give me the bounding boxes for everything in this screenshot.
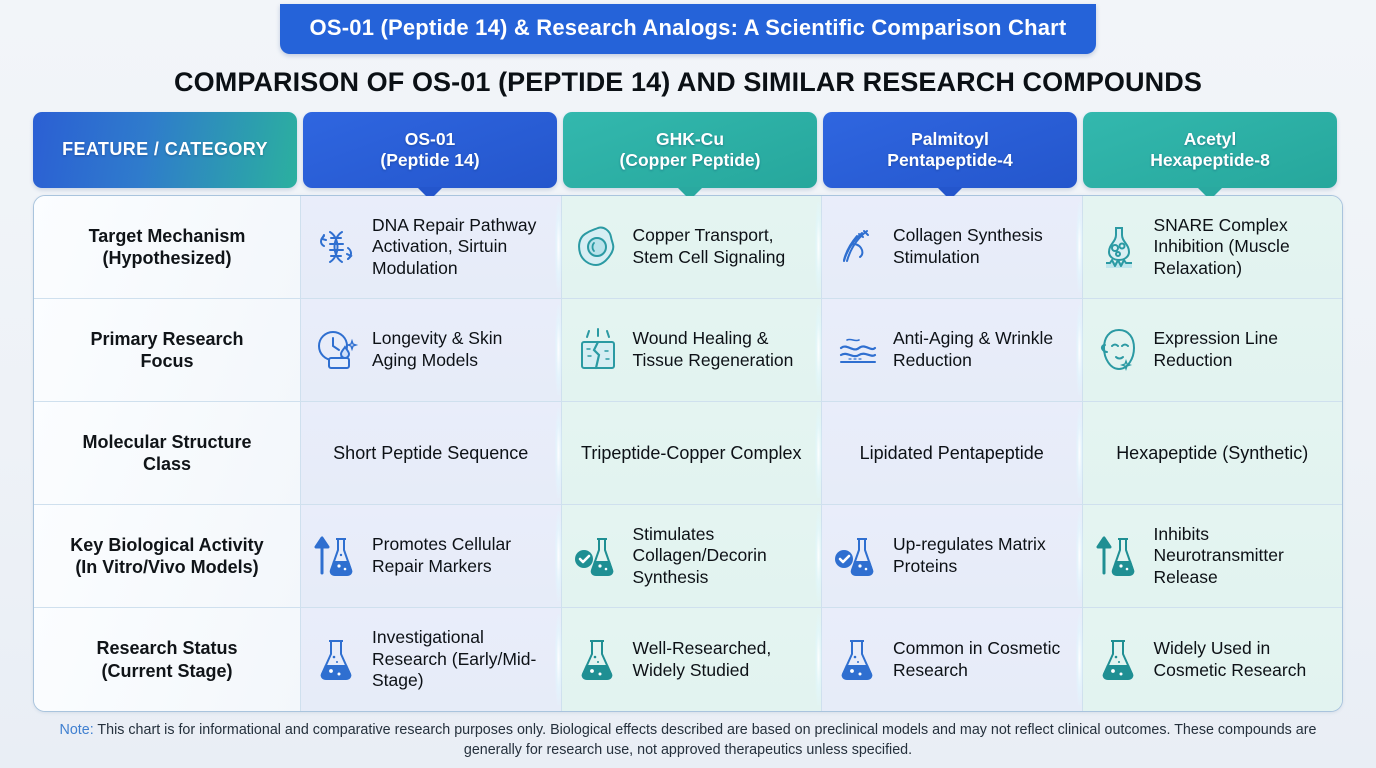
column-header-acetyl-label: Acetyl Hexapeptide-8 xyxy=(1150,129,1270,171)
row-label-line2: (Current Stage) xyxy=(101,661,232,681)
check-flask-icon xyxy=(572,530,624,582)
cell-text: Lipidated Pentapeptide xyxy=(860,442,1044,464)
column-header-ghkcu-line1: GHK-Cu xyxy=(656,129,724,149)
cell-palmitoyl-key-activity: Up-regulates Matrix Proteins xyxy=(822,505,1083,607)
column-header-os01-line1: OS-01 xyxy=(405,129,456,149)
column-header-os01-label: OS-01 (Peptide 14) xyxy=(380,129,479,171)
table-body: Target Mechanism (Hypothesized) xyxy=(33,195,1343,712)
table-row: Research Status (Current Stage) xyxy=(34,608,1342,711)
row-label-primary-research-focus: Primary Research Focus xyxy=(34,299,301,401)
cell-ghkcu-target-mechanism: Copper Transport, Stem Cell Signaling xyxy=(562,196,823,298)
row-label-line1: Research Status xyxy=(96,638,237,658)
row-label-target-mechanism: Target Mechanism (Hypothesized) xyxy=(34,196,301,298)
cell-palmitoyl-research-status: Common in Cosmetic Research xyxy=(822,608,1083,711)
cell-ghkcu-primary-focus: Wound Healing & Tissue Regeneration xyxy=(562,299,823,401)
cell-text: Wound Healing & Tissue Regeneration xyxy=(633,328,812,371)
wrinkle-waves-icon xyxy=(832,324,884,376)
column-header-ghkcu: GHK-Cu (Copper Peptide) xyxy=(563,112,817,188)
row-label-research-status: Research Status (Current Stage) xyxy=(34,608,301,711)
cell-text: Well-Researched, Widely Studied xyxy=(633,638,812,681)
cell-text: SNARE Complex Inhibition (Muscle Relaxat… xyxy=(1154,215,1333,280)
table-row: Key Biological Activity (In Vitro/Vivo M… xyxy=(34,505,1342,608)
column-header-os01-line2: (Peptide 14) xyxy=(380,150,479,170)
collagen-fiber-icon xyxy=(832,221,884,273)
column-header-palmitoyl: Palmitoyl Pentapeptide-4 xyxy=(823,112,1077,188)
column-header-palmitoyl-line2: Pentapeptide-4 xyxy=(887,150,1012,170)
cell-ghkcu-research-status: Well-Researched, Widely Studied xyxy=(562,608,823,711)
column-header-palmitoyl-line1: Palmitoyl xyxy=(911,129,989,149)
cell-text: Widely Used in Cosmetic Research xyxy=(1154,638,1333,681)
footnote: Note: This chart is for informational an… xyxy=(38,720,1338,761)
footnote-label: Note: xyxy=(60,722,94,738)
row-label-line2: (Hypothesized) xyxy=(102,248,231,268)
title-banner-container: OS-01 (Peptide 14) & Research Analogs: A… xyxy=(0,0,1376,54)
clock-skin-hydration-icon xyxy=(311,324,363,376)
chart-title-banner: OS-01 (Peptide 14) & Research Analogs: A… xyxy=(280,4,1097,54)
table-header-row: FEATURE / CATEGORY OS-01 (Peptide 14) GH… xyxy=(33,112,1343,188)
cell-text: Tripeptide-Copper Complex xyxy=(581,442,801,464)
row-label-line2: Class xyxy=(143,454,191,474)
cell-text: Short Peptide Sequence xyxy=(333,442,528,464)
cell-acetyl-molecular-structure: Hexapeptide (Synthetic) xyxy=(1083,402,1343,504)
cell-palmitoyl-primary-focus: Anti-Aging & Wrinkle Reduction xyxy=(822,299,1083,401)
column-header-acetyl-line1: Acetyl xyxy=(1184,129,1237,149)
dna-helix-icon xyxy=(311,221,363,273)
footnote-text: This chart is for informational and comp… xyxy=(94,722,1317,758)
infographic-page: OS-01 (Peptide 14) & Research Analogs: A… xyxy=(0,0,1376,768)
cell-os01-target-mechanism: DNA Repair Pathway Activation, Sirtuin M… xyxy=(301,196,562,298)
table-row: Primary Research Focus Lon xyxy=(34,299,1342,402)
row-label-line1: Key Biological Activity xyxy=(70,535,263,555)
cell-text: Collagen Synthesis Stimulation xyxy=(893,225,1072,268)
cell-os01-research-status: Investigational Research (Early/Mid-Stag… xyxy=(301,608,562,711)
column-header-palmitoyl-label: Palmitoyl Pentapeptide-4 xyxy=(887,129,1012,171)
column-header-feature: FEATURE / CATEGORY xyxy=(33,112,297,188)
face-icon xyxy=(1093,324,1145,376)
row-label-line1: Molecular Structure xyxy=(82,432,251,452)
cell-text: Promotes Cellular Repair Markers xyxy=(372,534,551,577)
cell-acetyl-research-status: Widely Used in Cosmetic Research xyxy=(1083,608,1343,711)
cell-palmitoyl-target-mechanism: Collagen Synthesis Stimulation xyxy=(822,196,1083,298)
cell-acetyl-target-mechanism: SNARE Complex Inhibition (Muscle Relaxat… xyxy=(1083,196,1343,298)
column-header-ghkcu-line2: (Copper Peptide) xyxy=(620,150,761,170)
row-label-molecular-structure: Molecular Structure Class xyxy=(34,402,301,504)
cell-text: Stimulates Collagen/Decorin Synthesis xyxy=(633,524,812,589)
cell-text: Anti-Aging & Wrinkle Reduction xyxy=(893,328,1072,371)
flask-icon xyxy=(832,634,884,686)
row-label-line2: Focus xyxy=(140,351,193,371)
arrow-up-flask-icon xyxy=(311,530,363,582)
row-label-key-biological-activity: Key Biological Activity (In Vitro/Vivo M… xyxy=(34,505,301,607)
flask-icon xyxy=(572,634,624,686)
cell-text: Investigational Research (Early/Mid-Stag… xyxy=(372,627,551,692)
column-header-acetyl: Acetyl Hexapeptide-8 xyxy=(1083,112,1337,188)
cell-ghkcu-key-activity: Stimulates Collagen/Decorin Synthesis xyxy=(562,505,823,607)
row-label-line2: (In Vitro/Vivo Models) xyxy=(75,557,258,577)
table-row: Target Mechanism (Hypothesized) xyxy=(34,196,1342,299)
cell-os01-molecular-structure: Short Peptide Sequence xyxy=(301,402,562,504)
comparison-table: FEATURE / CATEGORY OS-01 (Peptide 14) GH… xyxy=(33,112,1343,712)
synapse-icon xyxy=(1093,221,1145,273)
check-flask-icon xyxy=(832,530,884,582)
cell-acetyl-primary-focus: Expression Line Reduction xyxy=(1083,299,1343,401)
row-label-line1: Primary Research xyxy=(90,329,243,349)
table-row: Molecular Structure Class Short Peptide … xyxy=(34,402,1342,505)
wound-skin-icon xyxy=(572,324,624,376)
column-header-ghkcu-label: GHK-Cu (Copper Peptide) xyxy=(620,129,761,171)
cell-palmitoyl-molecular-structure: Lipidated Pentapeptide xyxy=(822,402,1083,504)
cell-os01-key-activity: Promotes Cellular Repair Markers xyxy=(301,505,562,607)
cell-text: Up-regulates Matrix Proteins xyxy=(893,534,1072,577)
cell-acetyl-key-activity: Inhibits Neurotransmitter Release xyxy=(1083,505,1343,607)
cell-text: Hexapeptide (Synthetic) xyxy=(1116,442,1308,464)
arrow-up-flask-icon xyxy=(1093,530,1145,582)
column-header-feature-label: FEATURE / CATEGORY xyxy=(62,139,268,161)
column-header-acetyl-line2: Hexapeptide-8 xyxy=(1150,150,1270,170)
row-label-line1: Target Mechanism xyxy=(89,226,246,246)
flask-icon xyxy=(311,634,363,686)
flask-icon xyxy=(1093,634,1145,686)
cell-ghkcu-molecular-structure: Tripeptide-Copper Complex xyxy=(562,402,823,504)
page-heading: COMPARISON OF OS-01 (PEPTIDE 14) AND SIM… xyxy=(0,67,1376,98)
cell-text: Expression Line Reduction xyxy=(1154,328,1333,371)
stem-cell-icon xyxy=(572,221,624,273)
cell-os01-primary-focus: Longevity & Skin Aging Models xyxy=(301,299,562,401)
cell-text: DNA Repair Pathway Activation, Sirtuin M… xyxy=(372,215,551,280)
cell-text: Common in Cosmetic Research xyxy=(893,638,1072,681)
column-header-os01: OS-01 (Peptide 14) xyxy=(303,112,557,188)
cell-text: Longevity & Skin Aging Models xyxy=(372,328,551,371)
cell-text: Copper Transport, Stem Cell Signaling xyxy=(633,225,812,268)
cell-text: Inhibits Neurotransmitter Release xyxy=(1154,524,1333,589)
